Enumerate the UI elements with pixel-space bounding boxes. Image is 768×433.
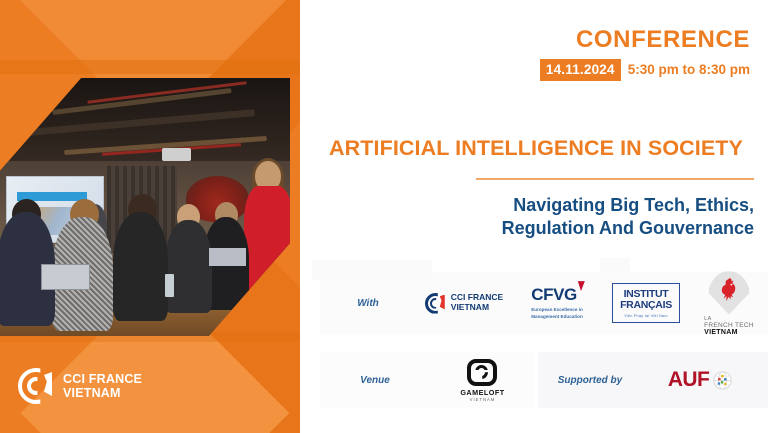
photo-person	[165, 220, 211, 313]
conference-poster: CCI FRANCE VIETNAM CONFERENCE 14.11.2024…	[0, 0, 768, 433]
cci-logo-line1: CCI FRANCE	[63, 372, 142, 386]
event-time: 5:30 pm to 8:30 pm	[628, 62, 750, 77]
venue-logo-gameloft: GAMELOFT VIETNAM	[430, 359, 535, 402]
supported-by-label: Supported by	[535, 375, 645, 386]
left-orange-panel: CCI FRANCE VIETNAM	[0, 0, 300, 433]
partner-logo-cci-france-vietnam: CCI FRANCE VIETNAM	[416, 293, 512, 314]
french-tech-line2: FRENCH TECH	[704, 322, 754, 329]
cfvg-tagline-line1: European Excellence in	[531, 307, 583, 314]
band-decoration-top	[0, 60, 300, 74]
cci-inner-c-icon	[27, 377, 45, 395]
title-divider	[476, 178, 754, 180]
cci-france-vietnam-logo: CCI FRANCE VIETNAM	[18, 368, 142, 404]
partners-bottom-row: Venue GAMELOFT VIETNAM Supported by AUF	[320, 352, 768, 408]
cci-inner-c-icon	[430, 298, 441, 309]
partner-logo-institut-francais: INSTITUT FRANÇAIS Viện Pháp tại Việt Nam	[602, 283, 690, 322]
photo-person	[113, 212, 168, 320]
event-subtitle: Navigating Big Tech, Ethics, Regulation …	[420, 194, 754, 239]
page-title: ARTIFICIAL INTELLIGENCE IN SOCIETY	[318, 136, 754, 161]
gameloft-sub: VIETNAM	[460, 397, 504, 402]
with-label: With	[320, 298, 416, 309]
french-tech-line3: VIETNAM	[704, 329, 754, 336]
institut-line2: FRANÇAIS	[620, 300, 672, 311]
auf-globe-lines	[713, 371, 732, 390]
gameloft-name: GAMELOFT	[460, 388, 504, 397]
cci-logo-icon	[425, 293, 446, 314]
partner-logo-cfvg: CFVG European Excellence in Management E…	[512, 285, 602, 321]
cci-flag-icon	[440, 295, 445, 310]
event-subtitle-line1: Navigating Big Tech, Ethics,	[420, 194, 754, 217]
institut-tagline: Viện Pháp tại Việt Nam	[620, 314, 672, 318]
partner-cci-line2: VIETNAM	[451, 303, 503, 313]
partners-with-row: With CCI FRANCE VIETNAM	[320, 272, 768, 334]
cfvg-wordmark: CFVG	[531, 285, 577, 305]
cfvg-tagline-line2: Management Education	[531, 314, 583, 321]
gameloft-g-icon	[475, 365, 488, 379]
cfvg-name: CFVG	[531, 285, 577, 304]
photo-water-bottle	[165, 274, 174, 297]
photo-laptop	[41, 264, 90, 290]
partner-cci-text: CCI FRANCE VIETNAM	[451, 293, 503, 313]
rooster-icon	[719, 277, 739, 305]
cci-logo-line2: VIETNAM	[63, 386, 142, 400]
supported-logo-auf: AUF	[645, 368, 755, 392]
cci-logo-text: CCI FRANCE VIETNAM	[63, 372, 142, 400]
gameloft-icon	[467, 359, 497, 386]
cfvg-tagline: European Excellence in Management Educat…	[531, 307, 583, 321]
cci-logo-icon	[18, 368, 54, 404]
partner-logo-la-french-tech-vietnam: LA FRENCH TECH VIETNAM	[690, 271, 768, 336]
event-kicker: CONFERENCE	[576, 26, 750, 54]
cfvg-tick-icon	[578, 281, 585, 291]
photo-projector	[162, 148, 191, 161]
auf-name: AUF	[668, 368, 709, 392]
photo-laptop	[209, 248, 247, 266]
content-area: CONFERENCE 14.11.2024 5:30 pm to 8:30 pm…	[300, 0, 768, 433]
auf-globe-icon	[713, 371, 732, 390]
event-date-badge: 14.11.2024	[540, 59, 621, 81]
venue-label: Venue	[320, 375, 430, 386]
event-datetime: 14.11.2024 5:30 pm to 8:30 pm	[540, 59, 750, 81]
event-subtitle-line2: Regulation And Gouvernance	[420, 217, 754, 240]
cci-flag-icon	[44, 372, 52, 396]
french-tech-pin-icon	[708, 271, 750, 315]
